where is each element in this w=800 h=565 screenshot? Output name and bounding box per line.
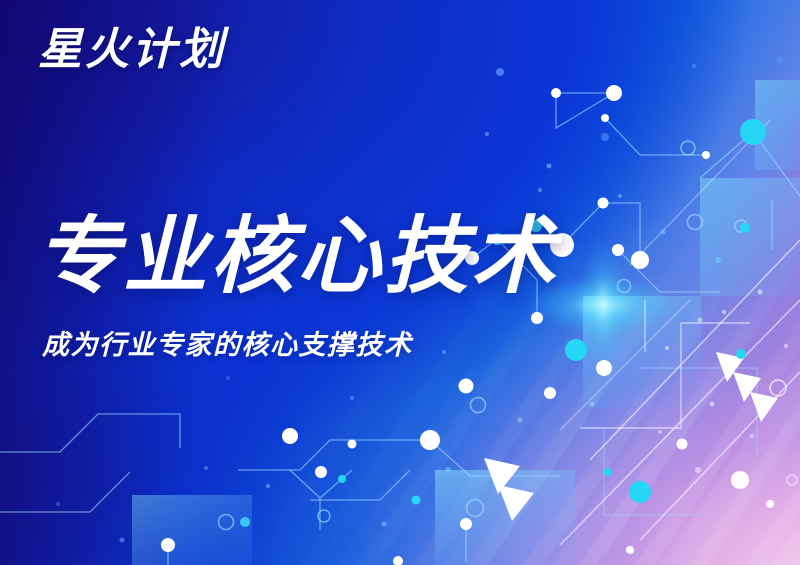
page-subtitle: 成为行业专家的核心支撑技术: [42, 332, 413, 359]
page-title: 专业核心技术: [36, 214, 558, 298]
brand-logo-text: 星火计划: [38, 28, 226, 72]
promo-banner: 星火计划 专业核心技术 成为行业专家的核心支撑技术: [0, 0, 800, 565]
